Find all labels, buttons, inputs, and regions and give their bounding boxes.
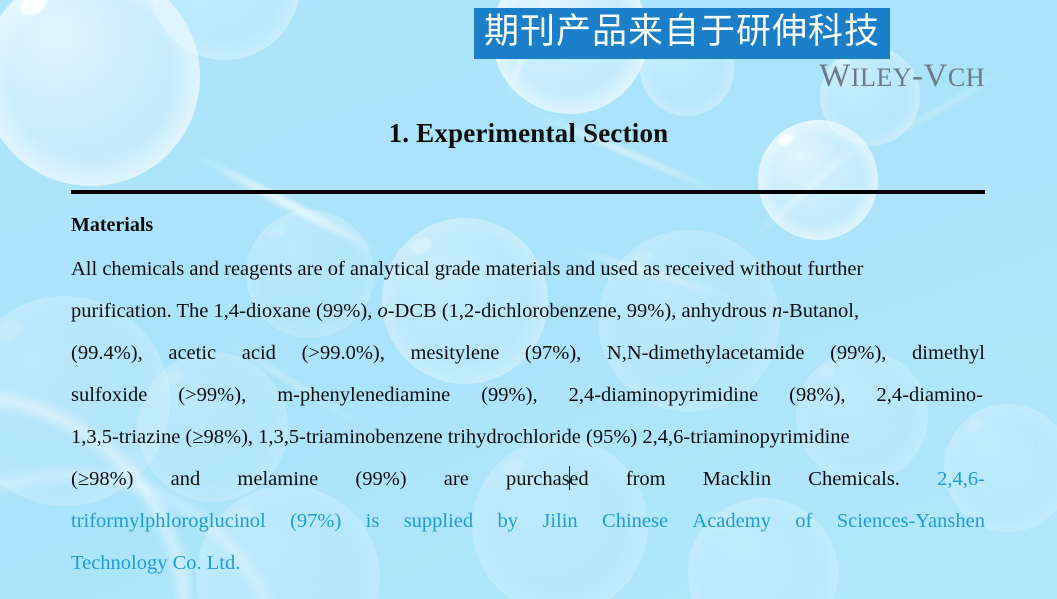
italic-o: o <box>377 300 387 322</box>
logo-iley: ILEY <box>851 63 912 92</box>
line-text: -Butanol, <box>782 300 859 322</box>
page-header: 期刊产品来自于研伸科技 WILEY-VCH <box>0 0 1057 110</box>
chinese-banner-label: 期刊产品来自于研伸科技 <box>474 8 890 59</box>
logo-dash: - <box>912 58 924 94</box>
line-word: (>99.0%), <box>302 332 385 374</box>
line-word-part: ed <box>569 468 588 490</box>
line-word-with-caret: purchased <box>506 458 589 500</box>
paragraph-line: (≥98%) and melamine (99%) are purchased … <box>71 458 985 500</box>
line-word: (97%), <box>525 332 581 374</box>
paragraph-line: purification. The 1,4-dioxane (99%), o-D… <box>71 290 985 332</box>
line-word: sulfoxide <box>71 374 147 416</box>
line-word: Chemicals. <box>808 458 900 500</box>
line-word: acid <box>242 332 276 374</box>
line-word: Academy <box>692 500 771 542</box>
line-word: acetic <box>168 332 216 374</box>
line-word: is <box>366 500 380 542</box>
line-word: (99%), <box>481 374 537 416</box>
line-word: triformylphloroglucinol <box>71 500 266 542</box>
paragraph-line-highlighted: Technology Co. Ltd. <box>71 542 985 584</box>
logo-ch: CH <box>948 63 985 92</box>
line-word: melamine <box>237 458 318 500</box>
subsection-heading: Materials <box>71 214 985 237</box>
line-word: Chinese <box>602 500 668 542</box>
logo-w: W <box>819 58 851 94</box>
line-word: are <box>444 458 469 500</box>
line-word: (99.4%), <box>71 332 143 374</box>
paragraph-line: sulfoxide (>99%), m-phenylenediamine (99… <box>71 374 983 416</box>
paragraph-line: All chemicals and reagents are of analyt… <box>71 248 985 290</box>
line-text: purification. The 1,4-dioxane (99%), <box>71 300 377 322</box>
line-text: -DCB (1,2-dichlorobenzene, 99%), anhydro… <box>388 300 772 322</box>
line-word: Sciences-Yanshen <box>837 500 985 542</box>
slide-page: 期刊产品来自于研伸科技 WILEY-VCH 1. Experimental Se… <box>0 0 1057 599</box>
paragraph-line: 1,3,5-triazine (≥98%), 1,3,5-triaminoben… <box>71 416 985 458</box>
line-word: N,N-dimethylacetamide <box>607 332 805 374</box>
line-word: and <box>171 458 201 500</box>
title-divider <box>71 190 985 194</box>
line-word: (>99%), <box>178 374 246 416</box>
line-word: m-phenylenediamine <box>277 374 450 416</box>
line-word-highlighted: 2,4,6- <box>937 458 985 500</box>
line-word: by <box>498 500 519 542</box>
line-word: Jilin <box>542 500 577 542</box>
logo-v: V <box>924 58 948 94</box>
paragraph-line: (99.4%), acetic acid (>99.0%), mesitylen… <box>71 332 985 374</box>
line-word: from <box>626 458 666 500</box>
page-title: 1. Experimental Section <box>0 118 1057 149</box>
paragraph-line-highlighted: triformylphloroglucinol (97%) is supplie… <box>71 500 985 542</box>
line-word: (99%) <box>355 458 406 500</box>
line-word: of <box>795 500 812 542</box>
line-word: (99%), <box>830 332 886 374</box>
line-word-part: purchas <box>506 468 570 490</box>
line-word: Macklin <box>703 458 771 500</box>
line-word: 2,4-diamino- <box>877 374 983 416</box>
content-body[interactable]: Materials All chemicals and reagents are… <box>71 214 985 584</box>
line-word: dimethyl <box>912 332 985 374</box>
line-word: (98%), <box>789 374 845 416</box>
line-word: mesitylene <box>410 332 499 374</box>
line-word: (97%) <box>290 500 341 542</box>
line-word: (≥98%) <box>71 458 133 500</box>
line-word: 2,4-diaminopyrimidine <box>569 374 759 416</box>
italic-n: n <box>772 300 782 322</box>
wiley-vch-logo: WILEY-VCH <box>819 58 985 95</box>
line-word: supplied <box>404 500 473 542</box>
